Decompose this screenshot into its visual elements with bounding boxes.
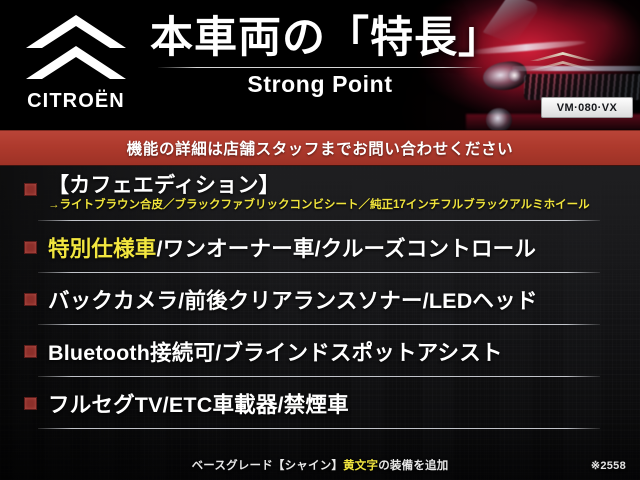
red-square-bullet-icon bbox=[24, 397, 37, 410]
feature-1-sub: →ライトブラウン合皮／ブラックファブリックコンビシート／純正17インチフルブラッ… bbox=[48, 199, 590, 213]
notice-bar-text: 機能の詳細は店舗スタッフまでお問い合わせください bbox=[127, 137, 513, 159]
header-title-block: 本車両の「特長」 Strong Point bbox=[150, 14, 490, 97]
feature-row-4: Bluetooth接続可/ブラインドスポットアシスト bbox=[0, 325, 640, 377]
red-square-bullet-icon bbox=[24, 345, 37, 358]
car-foglight bbox=[486, 108, 512, 130]
slide-header: VM·080·VX CITROËN 本車両の「特長」 bbox=[0, 0, 640, 130]
feature-1-main: 【カフェエディション】 bbox=[48, 174, 590, 199]
license-plate: VM·080·VX bbox=[541, 97, 633, 118]
footer-note-prefix: ベースグレード【シャイン】 bbox=[192, 460, 344, 472]
feature-3-text: バックカメラ/前後クリアランスソナー/LEDヘッド bbox=[48, 284, 538, 315]
red-square-bullet-icon bbox=[24, 183, 37, 196]
feature-5-text: フルセグTV/ETC車載器/禁煙車 bbox=[48, 388, 349, 419]
red-square-bullet-icon bbox=[24, 293, 37, 306]
strong-point-slide: VM·080·VX CITROËN 本車両の「特長」 bbox=[0, 0, 640, 480]
footer-note-highlight: 黄文字 bbox=[343, 460, 378, 472]
feature-4-text: Bluetooth接続可/ブラインドスポットアシスト bbox=[48, 336, 503, 367]
page-title: 本車両の「特長」 bbox=[150, 14, 490, 62]
feature-row-3: バックカメラ/前後クリアランスソナー/LEDヘッド bbox=[0, 273, 640, 325]
row-separator bbox=[38, 428, 600, 429]
page-subtitle: Strong Point bbox=[150, 72, 490, 97]
feature-2-text: 特別仕様車/ワンオーナー車/クルーズコントロール bbox=[48, 232, 536, 263]
citroen-wordmark: CITROËN bbox=[27, 91, 125, 111]
title-divider bbox=[158, 67, 482, 68]
footer-note: ベースグレード【シャイン】黄文字の装備を追加 bbox=[0, 457, 640, 473]
footer-note-suffix: の装備を追加 bbox=[378, 460, 448, 472]
footer-code: ※2558 bbox=[591, 459, 626, 472]
car-grille-chrome-bar bbox=[512, 66, 640, 71]
feature-list-area: 【カフェエディション】 →ライトブラウン合皮／ブラックファブリックコンビシート／… bbox=[0, 166, 640, 480]
feature-row-2: 特別仕様車/ワンオーナー車/クルーズコントロール bbox=[0, 221, 640, 273]
feature-row-1: 【カフェエディション】 →ライトブラウン合皮／ブラックファブリックコンビシート／… bbox=[0, 166, 640, 221]
feature-rows: 【カフェエディション】 →ライトブラウン合皮／ブラックファブリックコンビシート／… bbox=[0, 166, 640, 480]
citroen-logo: CITROËN bbox=[12, 12, 140, 120]
feature-row-5: フルセグTV/ETC車載器/禁煙車 bbox=[0, 377, 640, 429]
red-square-bullet-icon bbox=[24, 241, 37, 254]
feature-2-rest: /ワンオーナー車/クルーズコントロール bbox=[157, 237, 537, 261]
slide-footer: ベースグレード【シャイン】黄文字の装備を追加 ※2558 bbox=[0, 450, 640, 480]
citroen-double-chevron-icon bbox=[24, 14, 128, 88]
notice-bar: 機能の詳細は店舗スタッフまでお問い合わせください bbox=[0, 130, 640, 166]
feature-2-highlight: 特別仕様車 bbox=[48, 237, 157, 261]
